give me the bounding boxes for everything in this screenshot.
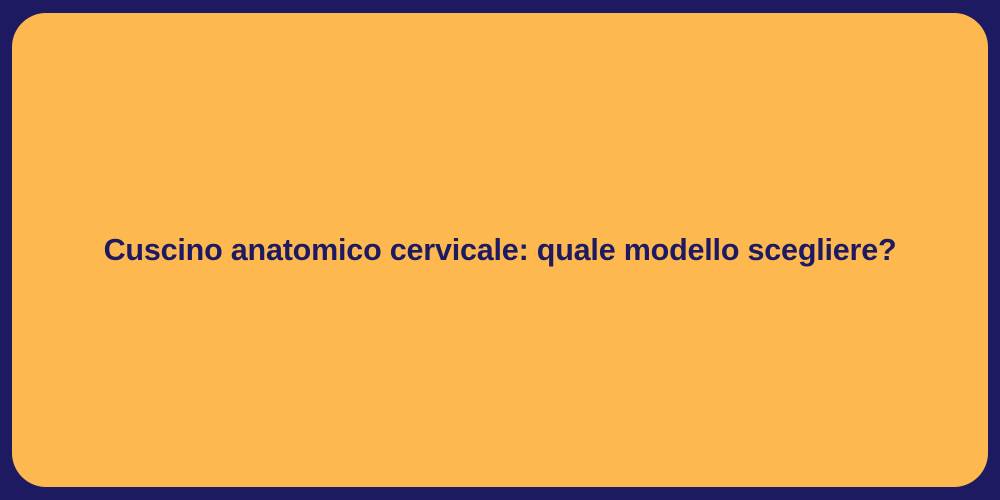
page-canvas: Cuscino anatomico cervicale: quale model… (0, 0, 1000, 500)
page-title: Cuscino anatomico cervicale: quale model… (104, 231, 897, 269)
hero-card: Cuscino anatomico cervicale: quale model… (12, 13, 988, 487)
